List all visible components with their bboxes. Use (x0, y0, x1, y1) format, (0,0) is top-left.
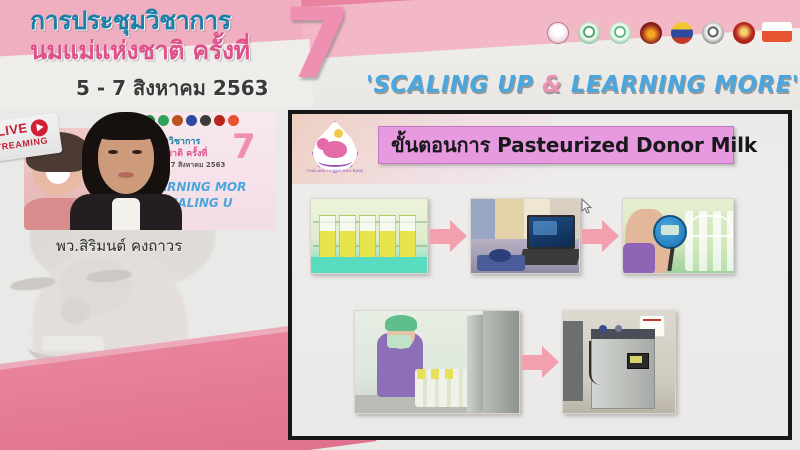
slide-stage: การประชุมวิชาการ นมแม่แห่งชาติ ครั้งที่ … (0, 0, 800, 450)
logo-thaihealth (762, 22, 792, 56)
poster-logo-6 (200, 115, 211, 126)
logo-medical-association-icon (733, 22, 755, 44)
logo-royal-crest (638, 22, 664, 56)
live-label: LIVE (0, 120, 29, 139)
arrow-right-icon-2 (580, 212, 622, 260)
embracing-arms-icon (318, 155, 352, 167)
logo-medical-association (731, 22, 757, 56)
photo-1-bottle-3 (359, 215, 376, 259)
logo-thaihealth-icon (762, 22, 792, 42)
conference-tagline: 'SCALING UP & LEARNING MORE' (366, 72, 799, 98)
sponsor-logo-row (545, 22, 792, 56)
speaker-fringe (94, 116, 158, 140)
photo-5-knob-1 (599, 325, 607, 333)
logo-thai-flag-emblem-icon (671, 22, 693, 44)
conference-edition-number: 7 (284, 0, 351, 92)
process-row-bottom (354, 310, 676, 414)
photo-5-power-cord (589, 341, 601, 385)
photo-5-knob-2 (615, 325, 622, 332)
photo-3-wire-rack (687, 215, 733, 237)
slide-title-text: ขั้นตอนการ Pasteurized Donor Milk (391, 129, 757, 161)
milk-bank-logo: THAILAND HUMAN MILK BANK (306, 119, 364, 181)
conference-title: การประชุมวิชาการ นมแม่แห่งชาติ ครั้งที่ (30, 6, 300, 66)
logo-royal-patronage (545, 22, 571, 56)
step-1-milk-bottles-photo (310, 198, 428, 274)
step-5-pasteurizer-photo (562, 310, 676, 414)
photo-1-bottle-5 (399, 215, 416, 259)
speaker-mouth (118, 172, 134, 178)
photo-4-nurse-mask (387, 335, 411, 348)
conference-title-line1: การประชุมวิชาการ (30, 6, 300, 36)
tagline-ampersand: & (542, 72, 562, 98)
arrow-2-head (602, 220, 619, 252)
milk-drop-highlight-icon (334, 129, 343, 138)
logo-thai-flag-emblem (669, 22, 695, 56)
photo-2-mouse (489, 249, 511, 262)
photo-4-bottle-cap-3 (445, 369, 453, 379)
step-4-nurse-loading-photo (354, 310, 520, 414)
logo-ministry-public-health-icon (578, 22, 600, 44)
logo-royal-crest-icon (640, 22, 662, 44)
logo-national-institute-icon (702, 22, 724, 44)
photo-1-floor (311, 257, 428, 273)
presentation-slide-panel: THAILAND HUMAN MILK BANK ขั้นตอนการ Past… (288, 110, 792, 440)
streaming-label: STREAMING (0, 135, 49, 153)
milk-bank-logo-caption: THAILAND HUMAN MILK BANK (306, 169, 364, 173)
photo-4-bottle-cap-1 (417, 369, 425, 379)
photo-5-sign-line (643, 319, 661, 321)
poster-logo-5 (186, 115, 197, 126)
poster-logo-7 (214, 115, 225, 126)
arrow-right-icon-1 (428, 212, 470, 260)
step-2-laptop-workstation-photo (470, 198, 580, 274)
photo-5-panel-display (630, 356, 642, 363)
process-row-top (310, 198, 734, 274)
logo-ministry-public-health (576, 22, 602, 56)
speaker-webcam-person (68, 112, 184, 230)
arrow-right-icon-3 (520, 338, 562, 386)
photo-3-thermometer-display (661, 225, 679, 235)
photo-2-laptop-keyboard (519, 249, 580, 265)
watermark-nose (60, 298, 90, 324)
logo-royal-patronage-icon (547, 22, 569, 44)
tagline-part1: 'SCALING UP (366, 72, 542, 98)
photo-4-bottle-cap-2 (431, 369, 439, 379)
logo-department-health (607, 22, 633, 56)
arrow-1-shaft (430, 229, 452, 244)
step-3-thermometer-photo (622, 198, 734, 274)
speaker-eye-right (132, 150, 142, 154)
conference-date: 5 - 7 สิงหาคม 2563 (76, 72, 269, 104)
conference-title-line2: นมแม่แห่งชาติ ครั้งที่ (30, 36, 300, 66)
arrow-3-head (542, 346, 559, 378)
slide-title-banner: ขั้นตอนการ Pasteurized Donor Milk (378, 126, 734, 164)
photo-1-bottle-1 (319, 215, 336, 259)
logo-department-health-icon (609, 22, 631, 44)
watermark-teeth (42, 336, 104, 351)
conference-header: การประชุมวิชาการ นมแม่แห่งชาติ ครั้งที่ … (0, 0, 800, 108)
logo-national-institute (700, 22, 726, 56)
photo-1-bottle-4 (379, 215, 396, 259)
photo-5-door (563, 321, 583, 401)
poster-edition-number: 7 (232, 130, 256, 164)
arrow-2-shaft (582, 229, 604, 244)
speaker-eye-left (108, 150, 118, 154)
photo-2-screen-glow (533, 221, 557, 235)
mouse-cursor-icon (581, 198, 593, 215)
speaker-name-label: พว.สิริมนต์ คงถาวร (56, 234, 182, 258)
tagline-part2: LEARNING MORE' (562, 72, 799, 98)
photo-3-sleeve (623, 243, 655, 274)
photo-1-bottle-2 (339, 215, 356, 259)
poster-logo-8 (228, 115, 239, 126)
photo-4-nurse-cap (385, 315, 417, 331)
photo-4-machine-body (483, 311, 520, 414)
arrow-3-shaft (522, 355, 544, 370)
arrow-1-head (450, 220, 467, 252)
speaker-shirt (112, 198, 140, 230)
